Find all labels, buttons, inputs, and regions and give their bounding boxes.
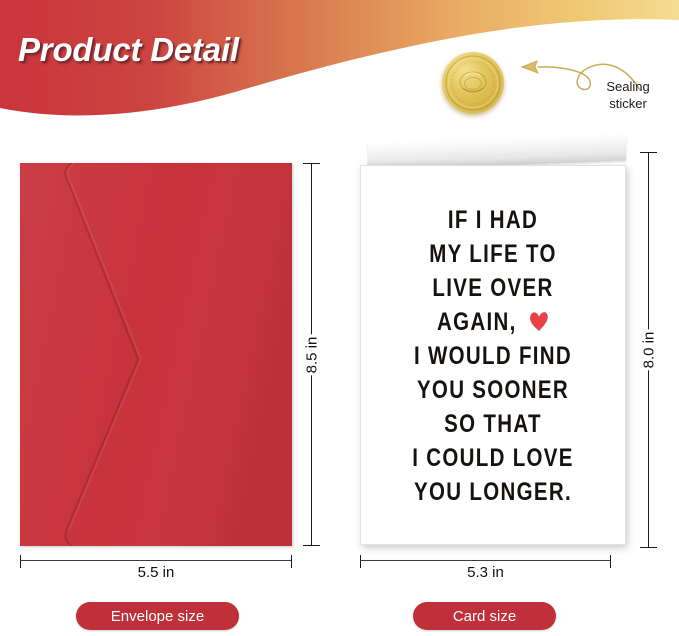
envelope-height-dimension: 8.5 in [300,163,324,546]
seal-emboss-detail [442,52,504,114]
heart-icon [529,311,549,332]
dimension-rule [360,560,611,561]
envelope-width-dimension: 5.5 in [20,555,292,581]
card-width-dimension: 5.3 in [360,555,611,581]
card-height-dimension: 8.0 in [637,152,661,548]
page-title: Product Detail [18,31,239,69]
envelope-size-badge: Envelope size [76,602,239,630]
dimension-tick-bottom [640,547,657,548]
envelope-image [20,163,292,546]
header-banner: Product Detail Sealing sticker [0,0,679,130]
card-height-label: 8.0 in [637,330,662,371]
dimension-tick-bottom [303,545,320,546]
envelope-flap-seam [20,163,292,546]
greeting-card-image: IF I HAD MY LIFE TO LIVE OVER AGAIN, I W… [352,144,634,548]
envelope-height-label: 8.5 in [300,334,325,375]
card-message-line: I COULD LOVE [385,441,601,475]
card-front-page: IF I HAD MY LIFE TO LIVE OVER AGAIN, I W… [360,165,626,545]
card-message-line: MY LIFE TO [385,237,601,271]
gold-seal-icon [442,52,504,114]
card-message-line: YOU SOONER [385,373,601,407]
card-message: IF I HAD MY LIFE TO LIVE OVER AGAIN, I W… [385,203,601,509]
product-stage: 8.5 in 5.5 in IF I HAD MY LIFE TO LIVE O… [0,130,679,636]
sealing-sticker-label-line2: sticker [588,95,668,112]
sealing-sticker-label: Sealing sticker [588,78,668,112]
card-size-badge: Card size [413,602,556,630]
card-message-line: IF I HAD [385,203,601,237]
card-message-line: LIVE OVER [385,271,601,305]
envelope-width-label: 5.5 in [20,564,292,581]
card-message-line: I WOULD FIND [385,339,601,373]
card-message-line: YOU LONGER. [385,475,601,509]
card-message-line-with-heart: AGAIN, [385,305,601,339]
card-message-line: SO THAT [385,407,601,441]
card-width-label: 5.3 in [360,564,611,581]
dimension-rule [20,560,292,561]
card-message-line: AGAIN, [437,308,517,336]
sealing-sticker-label-line1: Sealing [588,78,668,95]
